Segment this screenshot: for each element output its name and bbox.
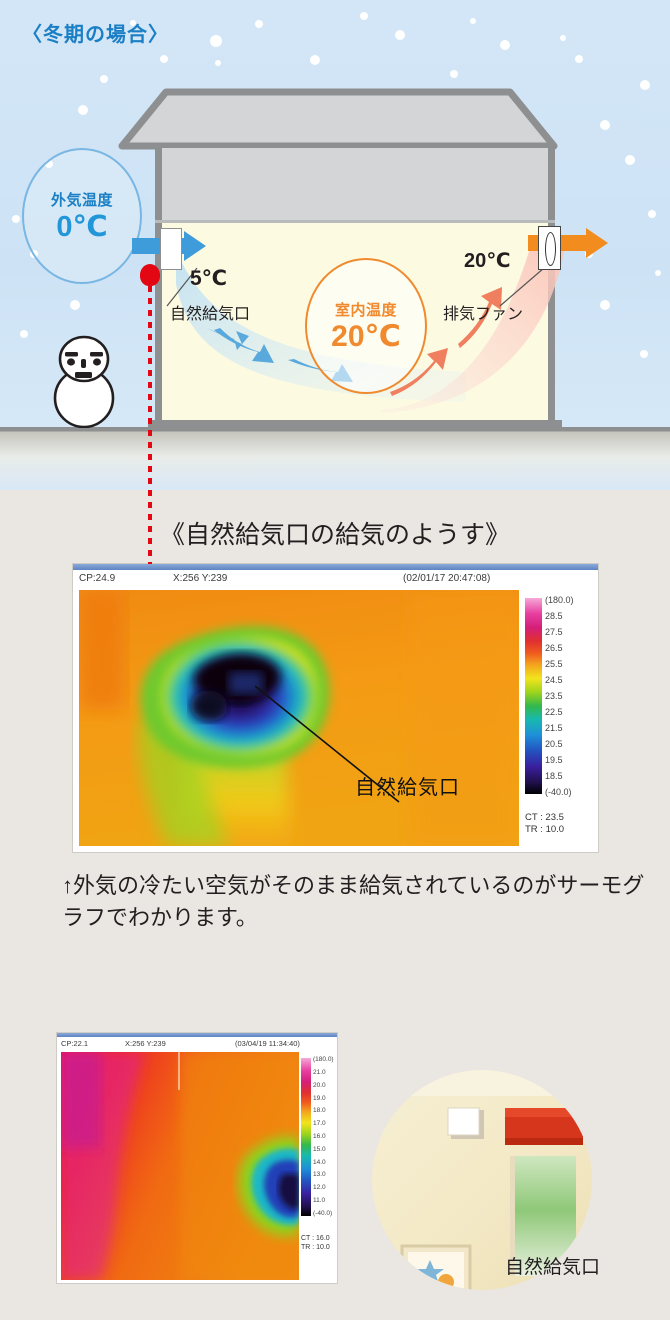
thermograph-annotation-label: 自然給気口 — [355, 771, 460, 800]
secondary-thermograph-image — [61, 1052, 299, 1280]
section-title: 《自然給気口の給気のようす》 — [0, 515, 670, 551]
scale-tick: (-40.0) — [313, 1210, 332, 1217]
secondary-thermograph-header: CP:22.1 X:256 Y:239 (03/04/19 11:34:40) — [57, 1037, 337, 1051]
scale-tick: 11.0 — [313, 1197, 325, 1204]
thermograph-cp-value: CP:24.9 — [79, 573, 115, 584]
winter-scene: 〈冬期の場合〉 外気温度 0℃ — [0, 0, 670, 490]
intake-vent-label: 自然給気口 — [170, 300, 250, 324]
snowflake — [648, 210, 656, 218]
scale-tick: 15.0 — [313, 1146, 326, 1153]
outside-temperature-value: 0℃ — [56, 212, 107, 242]
secondary-thermograph: CP:22.1 X:256 Y:239 (03/04/19 11:34:40) — [57, 1033, 337, 1283]
snowflake — [640, 80, 650, 90]
outside-temperature-label: 外気温度 — [51, 189, 113, 210]
outside-temperature-bubble: 外気温度 0℃ — [22, 148, 142, 284]
house-attic — [155, 148, 555, 223]
scale-tick: 19.5 — [545, 755, 563, 765]
marker-connector-dotted-line — [148, 286, 152, 564]
secondary-color-scale-ticks: (180.0)21.020.019.018.017.016.015.014.01… — [313, 1052, 339, 1227]
secondary-timestamp: (03/04/19 11:34:40) — [235, 1039, 300, 1048]
snowflake — [78, 105, 88, 115]
scale-tick: 27.5 — [545, 627, 563, 637]
scale-tick: 23.5 — [545, 691, 563, 701]
scale-tick: 21.0 — [313, 1069, 326, 1076]
intake-temperature-value: 5℃ — [190, 266, 227, 291]
secondary-color-scale-bar — [301, 1058, 311, 1216]
snowflake — [575, 55, 583, 63]
scale-tick: 13.0 — [313, 1171, 326, 1178]
scale-tick: (-40.0) — [545, 787, 572, 797]
thermograph-timestamp: (02/01/17 20:47:08) — [403, 573, 490, 584]
snowflake — [600, 300, 610, 310]
scale-tick: 20.5 — [545, 739, 563, 749]
snowflake — [215, 60, 221, 66]
snowflake — [640, 350, 648, 358]
snowflake — [470, 18, 476, 24]
photo-caption-label: 自然給気口 — [505, 1252, 600, 1279]
scale-tick: 20.0 — [313, 1082, 326, 1089]
scale-tick: 19.0 — [313, 1095, 326, 1102]
thermograph-color-scale: (180.0)28.527.526.525.524.523.522.521.52… — [525, 590, 595, 846]
scale-tick: 28.5 — [545, 611, 563, 621]
secondary-ct-value: CT : 16.0 — [301, 1234, 330, 1243]
color-scale-ticks: (180.0)28.527.526.525.524.523.522.521.52… — [545, 590, 593, 805]
scale-tick: 21.5 — [545, 723, 563, 733]
scale-tick: 26.5 — [545, 643, 563, 653]
secondary-ct-tr: CT : 16.0 TR : 10.0 — [301, 1234, 330, 1252]
scale-tick: 12.0 — [313, 1184, 326, 1191]
scale-tick: 16.0 — [313, 1133, 326, 1140]
scale-tick: 25.5 — [545, 659, 563, 669]
exhaust-temperature-value: 20℃ — [464, 248, 510, 273]
house-roof — [118, 88, 558, 150]
thermograph-image — [79, 590, 519, 846]
page-root: 〈冬期の場合〉 外気温度 0℃ — [0, 0, 670, 1320]
thermograph-tr-value: TR : 10.0 — [525, 824, 564, 836]
thermograph-xy-value: X:256 Y:239 — [173, 573, 227, 584]
snowflake — [310, 55, 320, 65]
house-floor — [148, 420, 562, 427]
scale-tick: 24.5 — [545, 675, 563, 685]
scale-tick: (180.0) — [313, 1056, 334, 1063]
thermograph-ct-value: CT : 23.5 — [525, 812, 564, 824]
snowflake — [395, 30, 405, 40]
room-temperature-value: 20℃ — [331, 321, 401, 353]
scale-tick: 17.0 — [313, 1120, 326, 1127]
snowflake — [560, 35, 566, 41]
fan-blade-icon — [545, 232, 556, 266]
snowflake — [12, 215, 20, 223]
secondary-tr-value: TR : 10.0 — [301, 1243, 330, 1252]
snowflake — [255, 20, 263, 28]
room-temperature-label: 室内温度 — [335, 299, 397, 320]
snowflake — [70, 300, 80, 310]
snowflake — [625, 155, 635, 165]
natural-air-intake-vent — [160, 228, 182, 270]
thermograph-caption: ↑外気の冷たい空気がそのまま給気されているのがサーモグラフでわかります。 — [62, 870, 662, 934]
main-thermograph: CP:24.9 X:256 Y:239 (02/01/17 20:47:08) — [73, 564, 598, 852]
snowflake — [600, 120, 610, 130]
secondary-cp-value: CP:22.1 — [61, 1039, 88, 1048]
snowflake — [450, 70, 458, 78]
scale-tick: (180.0) — [545, 595, 574, 605]
snowflake — [160, 55, 168, 63]
snowflake — [655, 270, 661, 276]
snowman-illustration — [38, 330, 130, 428]
ground — [0, 427, 670, 490]
exhaust-fan-label: 排気ファン — [443, 300, 523, 324]
room-temperature-bubble: 室内温度 20℃ — [305, 258, 427, 394]
snowflake — [100, 75, 108, 83]
secondary-xy-value: X:256 Y:239 — [125, 1039, 166, 1048]
color-scale-bar — [525, 598, 542, 794]
scale-tick: 18.0 — [313, 1107, 326, 1114]
thermograph-header: CP:24.9 X:256 Y:239 (02/01/17 20:47:08) — [73, 570, 598, 588]
snowflake — [20, 330, 28, 338]
scale-tick: 18.5 — [545, 771, 563, 781]
thermograph-ct-tr: CT : 23.5 TR : 10.0 — [525, 812, 564, 836]
location-marker-dot — [140, 264, 160, 286]
scale-tick: 14.0 — [313, 1159, 326, 1166]
exhaust-fan-vent — [538, 226, 561, 270]
snowflake — [210, 35, 222, 47]
secondary-color-scale: (180.0)21.020.019.018.017.016.015.014.01… — [301, 1052, 337, 1280]
scale-tick: 22.5 — [545, 707, 563, 717]
snowflake — [500, 40, 510, 50]
snowflake — [360, 12, 368, 20]
scene-title: 〈冬期の場合〉 — [22, 18, 169, 47]
